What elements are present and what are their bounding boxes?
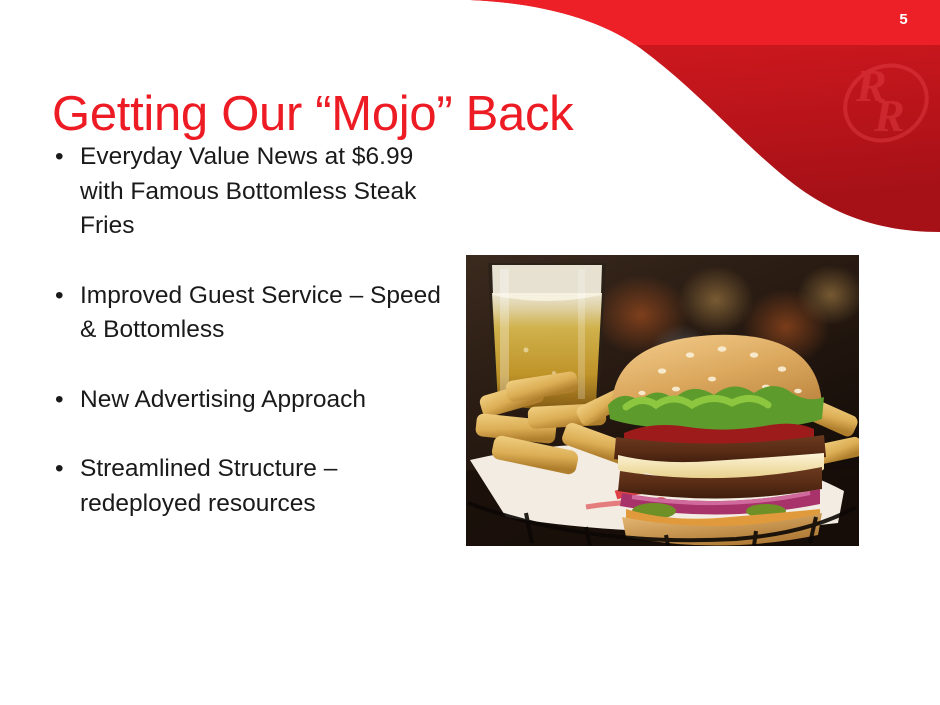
bullet-text: New Advertising Approach bbox=[80, 386, 366, 413]
presentation-slide: R R 5 Getting Our “Mojo” Back • Everyday… bbox=[0, 0, 940, 705]
bullet-text: Everyday Value News at $6.99 with Famous… bbox=[80, 143, 416, 239]
svg-text:R: R bbox=[855, 60, 887, 111]
bullet-item: • New Advertising Approach bbox=[46, 383, 446, 418]
rr-monogram-watermark: R R bbox=[832, 51, 940, 154]
bullet-item: • Improved Guest Service – Speed & Botto… bbox=[46, 279, 446, 348]
bullet-marker-icon: • bbox=[55, 140, 64, 175]
bullet-marker-icon: • bbox=[55, 452, 64, 487]
slide-title: Getting Our “Mojo” Back bbox=[52, 88, 573, 142]
banner-top-band bbox=[0, 0, 940, 45]
bullet-item: • Streamlined Structure – redeployed res… bbox=[46, 452, 446, 521]
bullet-marker-icon: • bbox=[55, 279, 64, 314]
cheeseburger bbox=[608, 335, 826, 546]
bullet-text: Streamlined Structure – redeployed resou… bbox=[80, 455, 337, 517]
bullet-marker-icon: • bbox=[55, 383, 64, 418]
svg-text:R: R bbox=[873, 90, 905, 141]
page-number: 5 bbox=[899, 12, 908, 27]
bullet-list: • Everyday Value News at $6.99 with Famo… bbox=[46, 140, 446, 521]
bullet-text: Improved Guest Service – Speed & Bottoml… bbox=[80, 282, 441, 344]
burger-fries-beer-photo: O bbox=[466, 255, 859, 546]
bullet-item: • Everyday Value News at $6.99 with Famo… bbox=[46, 140, 446, 244]
